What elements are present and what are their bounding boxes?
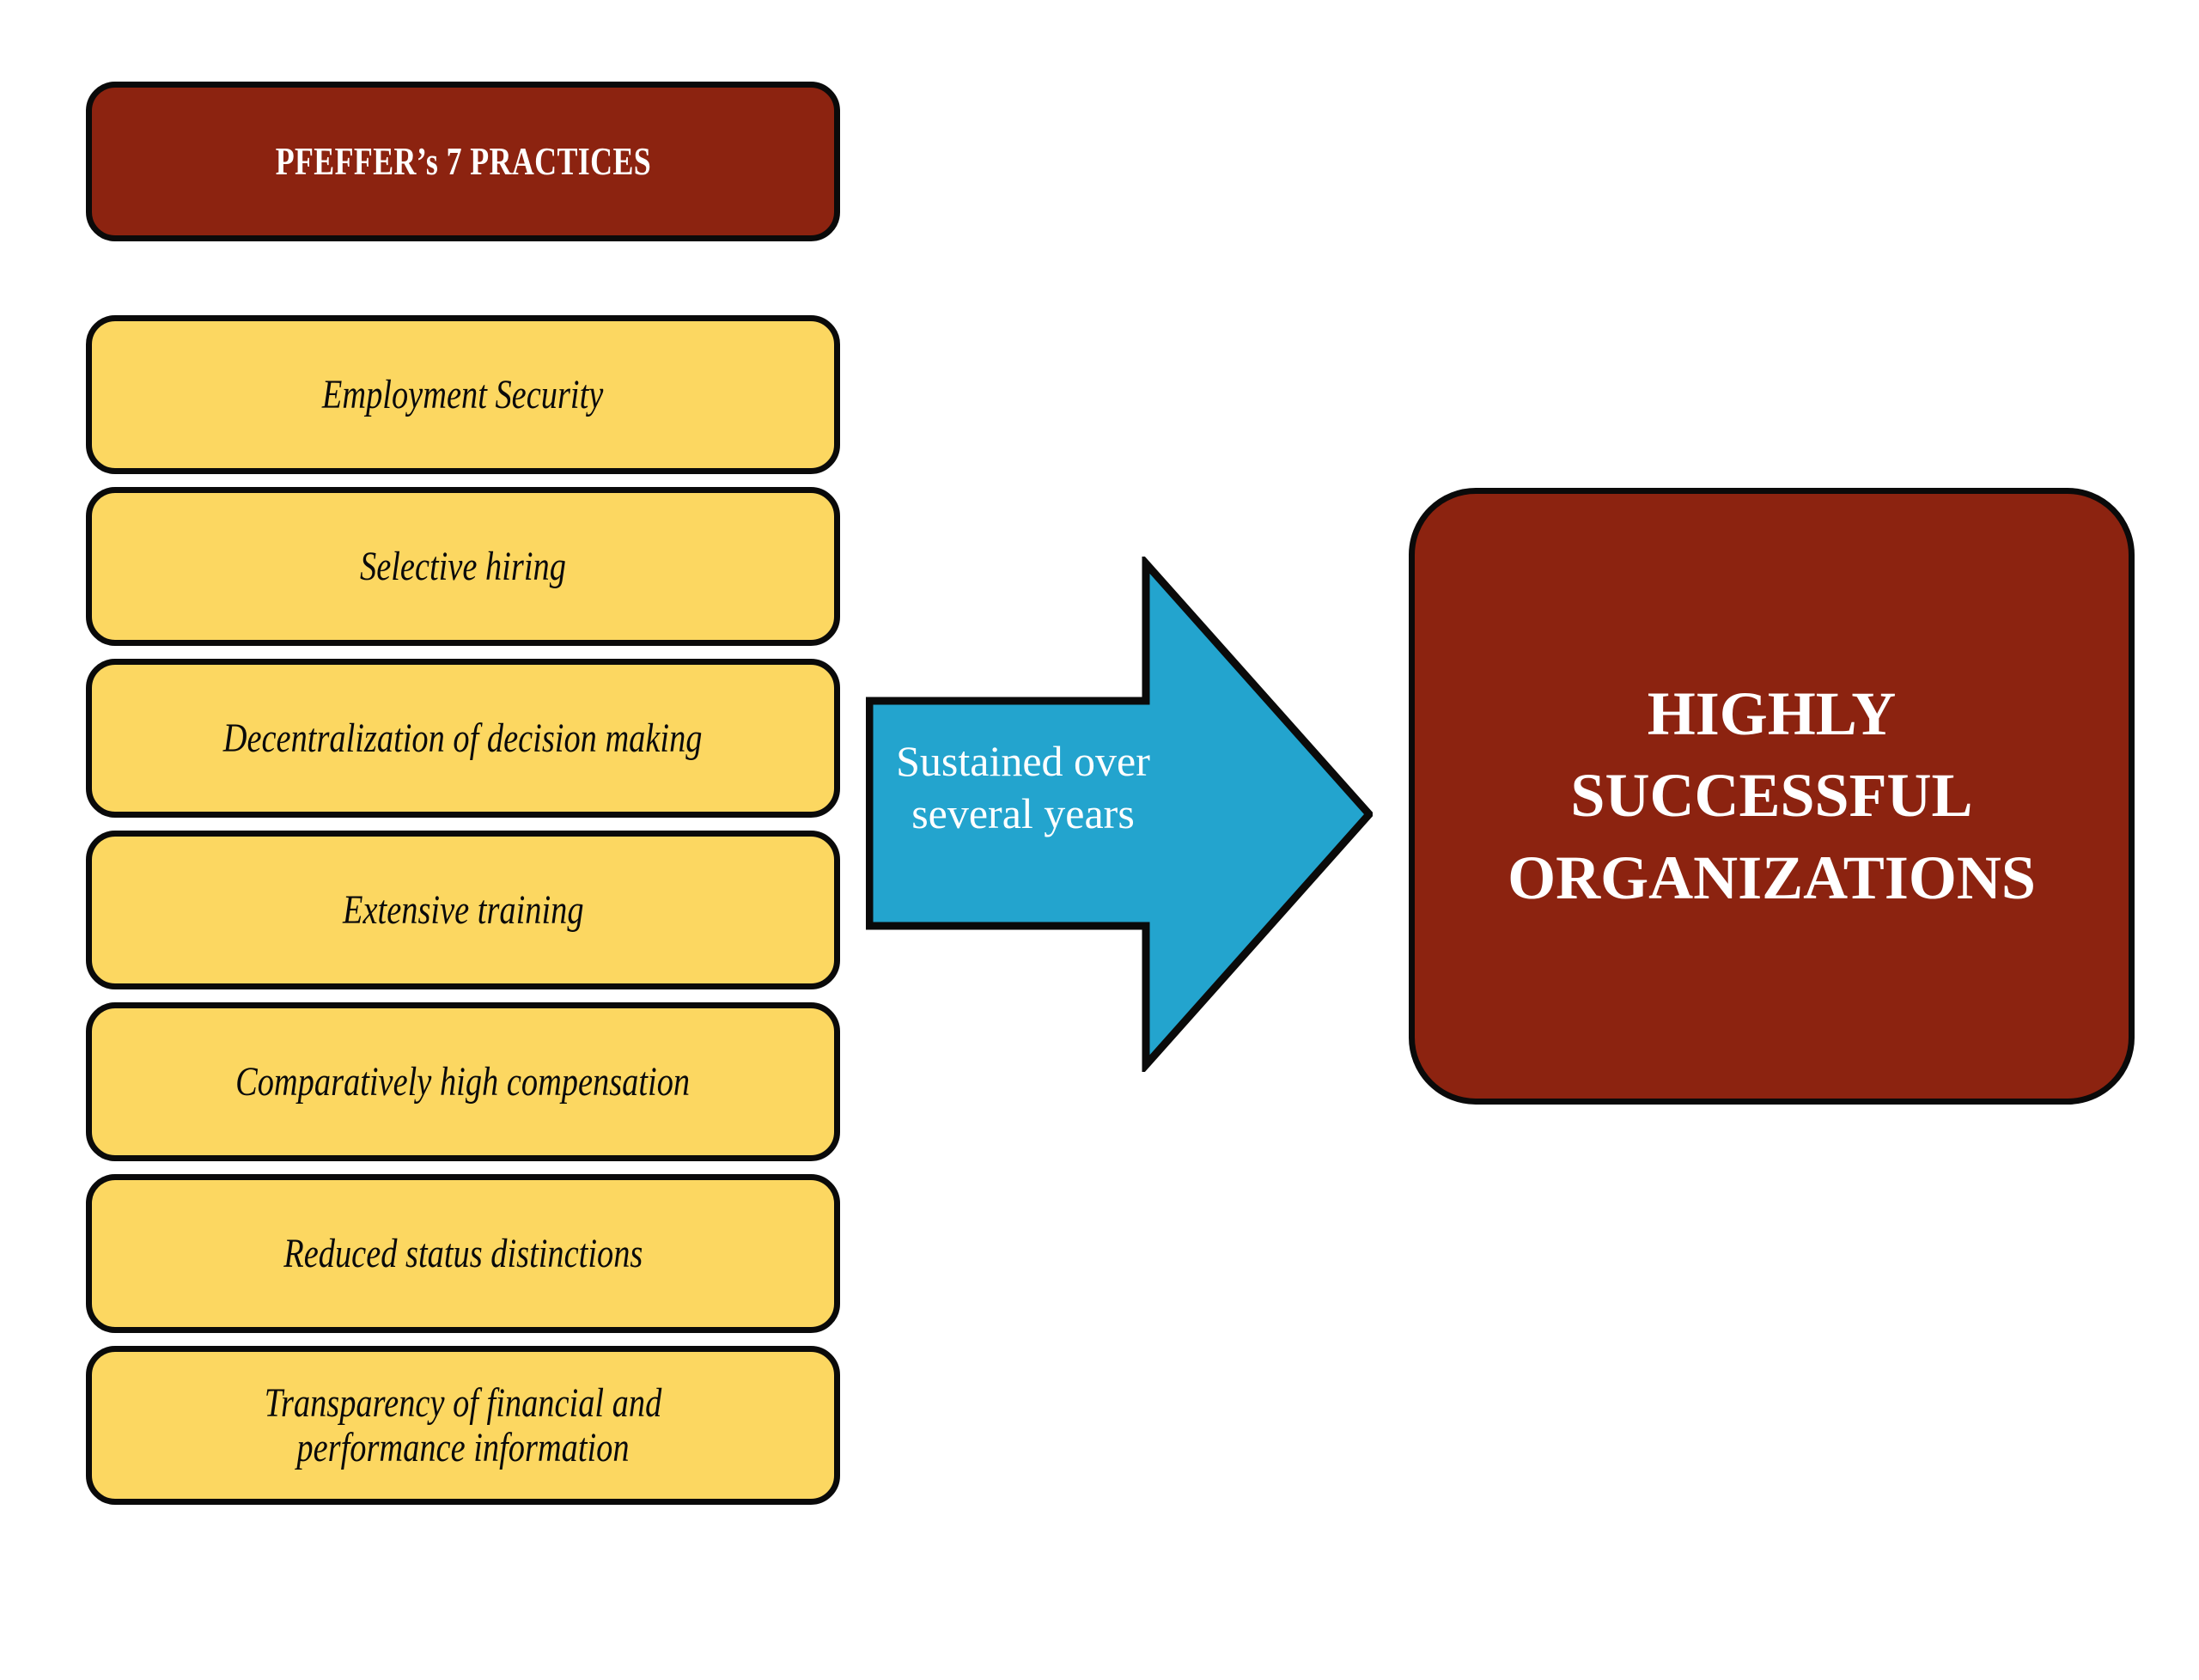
outcome-label: HIGHLY SUCCESSFUL ORGANIZATIONS xyxy=(1415,673,2129,918)
right-arrow-icon xyxy=(866,557,1373,1072)
practice-box-decentralization: Decentralization of decision making xyxy=(86,659,840,818)
practices-header-label: PFEFFER’s 7 PRACTICES xyxy=(275,140,650,184)
practice-label: Decentralization of decision making xyxy=(209,716,718,761)
practice-box-high-compensation: Comparatively high compensation xyxy=(86,1002,840,1161)
practices-column: PFEFFER’s 7 PRACTICES Employment Securit… xyxy=(86,82,840,1518)
practice-box-selective-hiring: Selective hiring xyxy=(86,487,840,646)
practice-box-employment-security: Employment Security xyxy=(86,315,840,474)
practice-label: Employment Security xyxy=(308,373,619,417)
practice-label: Reduced status distinctions xyxy=(268,1232,657,1276)
connector-arrow: Sustained over several years xyxy=(866,557,1373,1072)
practice-label: Extensive training xyxy=(327,888,599,933)
practice-label: Transparency of financial and performanc… xyxy=(166,1381,759,1470)
outcome-box: HIGHLY SUCCESSFUL ORGANIZATIONS xyxy=(1409,488,2135,1105)
practice-label: Comparatively high compensation xyxy=(221,1060,705,1105)
diagram-canvas: PFEFFER’s 7 PRACTICES Employment Securit… xyxy=(0,0,2199,1680)
practices-header-box: PFEFFER’s 7 PRACTICES xyxy=(86,82,840,241)
practice-box-transparency: Transparency of financial and performanc… xyxy=(86,1346,840,1505)
practice-box-reduced-status-distinctions: Reduced status distinctions xyxy=(86,1174,840,1333)
practice-box-extensive-training: Extensive training xyxy=(86,831,840,989)
practice-label: Selective hiring xyxy=(344,545,581,589)
